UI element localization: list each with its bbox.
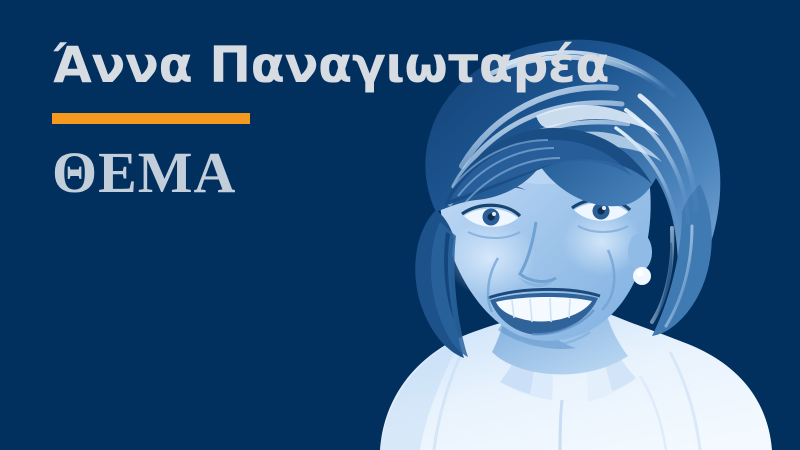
pearl-earring [633, 267, 651, 285]
accent-divider [52, 113, 250, 124]
banner-text-block: Άννα Παναγιωταρέα ΘΕΜΑ [52, 38, 609, 202]
brand-logo: ΘΕΜΑ [52, 144, 609, 202]
page-title: Άννα Παναγιωταρέα [52, 38, 609, 92]
article-banner: Άννα Παναγιωταρέα ΘΕΜΑ [0, 0, 800, 450]
